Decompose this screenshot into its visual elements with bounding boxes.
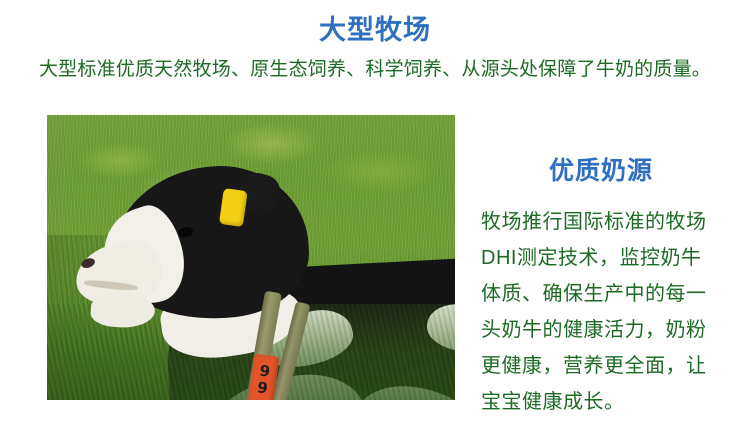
side-body-line: 牧场推行国际标准的牧场 xyxy=(481,204,733,240)
side-section-title: 优质奶源 xyxy=(470,156,732,186)
ear-tag-icon xyxy=(219,188,248,227)
side-body-line: 头奶牛的健康活力，奶粉 xyxy=(481,312,733,348)
page-subtitle: 大型标准优质天然牧场、原生态饲养、科学饲养、从源头处保障了牛奶的质量。 xyxy=(0,58,750,82)
side-body-line: 体质、确保生产中的每一 xyxy=(481,276,733,312)
side-body-line: 宝宝健康成长。 xyxy=(481,384,733,420)
side-body-line: 更健康，营养更全面，让 xyxy=(481,348,733,384)
side-section-body: 牧场推行国际标准的牧场 DHI测定技术，监控奶牛 体质、确保生产中的每一 头奶牛… xyxy=(481,204,733,420)
pasture-photo: 9 9 xyxy=(47,115,455,400)
side-body-line: DHI测定技术，监控奶牛 xyxy=(481,240,733,276)
promo-banner: 大型牧场 大型标准优质天然牧场、原生态饲养、科学饲养、从源头处保障了牛奶的质量。 xyxy=(0,0,750,434)
collar-digit-2: 9 xyxy=(249,378,276,398)
cow-head xyxy=(64,163,320,352)
page-title: 大型牧场 xyxy=(0,14,750,46)
